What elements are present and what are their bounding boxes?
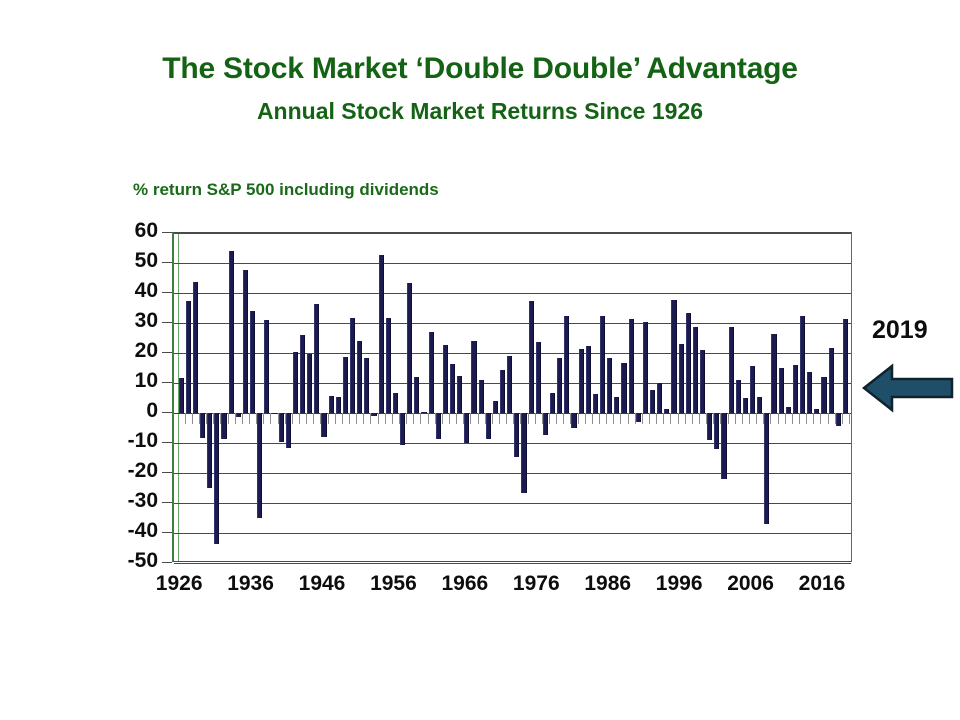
bar bbox=[200, 413, 205, 438]
x-axis-tick-mark bbox=[249, 413, 250, 424]
bar bbox=[179, 378, 184, 413]
bar bbox=[636, 413, 641, 422]
bar bbox=[436, 413, 441, 439]
x-axis-tick-mark bbox=[392, 413, 393, 424]
x-axis-tick-mark bbox=[685, 413, 686, 424]
gridline bbox=[174, 443, 851, 444]
gridline bbox=[174, 293, 851, 294]
x-axis-tick-label: 1956 bbox=[353, 572, 433, 596]
bar bbox=[336, 397, 341, 414]
y-axis-tick-mark bbox=[162, 232, 172, 233]
bar bbox=[521, 413, 526, 493]
bar bbox=[500, 370, 505, 413]
bar bbox=[536, 342, 541, 413]
bar bbox=[607, 358, 612, 414]
bar bbox=[350, 318, 355, 413]
bar bbox=[736, 380, 741, 413]
x-axis-tick-mark bbox=[335, 413, 336, 424]
bar bbox=[400, 413, 405, 445]
bar bbox=[371, 413, 376, 416]
x-axis-tick-mark bbox=[556, 413, 557, 424]
x-axis-tick-mark bbox=[406, 413, 407, 424]
y-axis-tick-label: 60 bbox=[100, 219, 158, 243]
y-axis-tick-mark bbox=[162, 442, 172, 443]
x-axis-tick-mark bbox=[785, 413, 786, 424]
bar bbox=[557, 358, 562, 413]
gridline bbox=[174, 323, 851, 324]
bar bbox=[221, 413, 226, 439]
y-axis-tick-label: 0 bbox=[100, 399, 158, 423]
bar bbox=[450, 364, 455, 414]
x-axis-tick-mark bbox=[270, 413, 271, 424]
bar bbox=[643, 322, 648, 414]
x-axis-tick-mark bbox=[292, 413, 293, 424]
y-axis-tick-label: -50 bbox=[100, 549, 158, 573]
bar bbox=[543, 413, 548, 435]
bar bbox=[229, 251, 234, 413]
x-axis-tick-mark bbox=[313, 413, 314, 424]
bar bbox=[514, 413, 519, 457]
x-axis-tick-mark bbox=[449, 413, 450, 424]
bar bbox=[614, 397, 619, 413]
bar bbox=[471, 341, 476, 413]
x-axis-tick-mark bbox=[628, 413, 629, 424]
x-axis-tick-mark bbox=[428, 413, 429, 424]
x-axis-tick-mark bbox=[585, 413, 586, 424]
x-axis-tick-mark bbox=[328, 413, 329, 424]
y-axis-tick-mark bbox=[162, 262, 172, 263]
bar bbox=[714, 413, 719, 449]
bar bbox=[186, 301, 191, 414]
bar bbox=[236, 413, 241, 417]
bar bbox=[207, 413, 212, 488]
x-axis-tick-mark bbox=[735, 413, 736, 424]
bar bbox=[843, 319, 848, 414]
x-axis-tick-mark bbox=[506, 413, 507, 424]
y-axis-tick-mark bbox=[162, 382, 172, 383]
x-axis-tick-mark bbox=[499, 413, 500, 424]
bar bbox=[793, 365, 798, 413]
x-axis-tick-mark bbox=[842, 413, 843, 424]
left-arrow-icon bbox=[862, 362, 954, 414]
x-axis-tick-mark bbox=[599, 413, 600, 424]
x-axis-tick-mark bbox=[535, 413, 536, 424]
bar bbox=[243, 270, 248, 413]
x-axis-tick-label: 1946 bbox=[282, 572, 362, 596]
bar bbox=[721, 413, 726, 479]
x-axis-tick-mark bbox=[349, 413, 350, 424]
bar bbox=[300, 335, 305, 413]
x-axis-tick-mark bbox=[770, 413, 771, 424]
y-axis-tick-mark bbox=[162, 292, 172, 293]
bar bbox=[314, 304, 319, 413]
x-axis-tick-mark bbox=[820, 413, 821, 424]
x-axis-tick-mark bbox=[263, 413, 264, 424]
bar bbox=[464, 413, 469, 443]
bar bbox=[593, 394, 598, 413]
x-axis-tick-mark bbox=[242, 413, 243, 424]
x-axis-tick-mark bbox=[420, 413, 421, 424]
bar bbox=[814, 409, 819, 413]
bar bbox=[414, 377, 419, 413]
x-axis-tick-label: 1996 bbox=[639, 572, 719, 596]
gridline bbox=[174, 533, 851, 534]
bar bbox=[707, 413, 712, 440]
bar bbox=[586, 346, 591, 414]
x-axis-tick-label: 1926 bbox=[139, 572, 219, 596]
x-axis-tick-label: 2016 bbox=[782, 572, 862, 596]
x-axis-tick-label: 1976 bbox=[496, 572, 576, 596]
y-axis-tick-label: 20 bbox=[100, 339, 158, 363]
x-axis-tick-mark bbox=[492, 413, 493, 424]
gridline bbox=[174, 233, 851, 234]
bar bbox=[386, 318, 391, 413]
y-axis-tick-mark bbox=[162, 562, 172, 563]
bar bbox=[307, 354, 312, 413]
x-axis-tick-mark bbox=[742, 413, 743, 424]
bar bbox=[657, 383, 662, 413]
bar bbox=[286, 413, 291, 448]
chart-axis-title: % return S&P 500 including dividends bbox=[133, 180, 439, 200]
x-axis-tick-mark bbox=[342, 413, 343, 424]
bar bbox=[364, 358, 369, 413]
bar bbox=[429, 332, 434, 413]
x-axis-tick-label: 1986 bbox=[568, 572, 648, 596]
bar bbox=[764, 413, 769, 524]
page-title: The Stock Market ‘Double Double’ Advanta… bbox=[0, 52, 960, 86]
x-axis-tick-mark bbox=[728, 413, 729, 424]
x-axis-tick-mark bbox=[478, 413, 479, 424]
bar bbox=[650, 390, 655, 413]
bar bbox=[836, 413, 841, 426]
bar bbox=[829, 348, 834, 413]
y-axis-tick-label: 50 bbox=[100, 249, 158, 273]
x-axis-tick-mark bbox=[185, 413, 186, 424]
page-subtitle: Annual Stock Market Returns Since 1926 bbox=[0, 98, 960, 125]
x-axis-tick-mark bbox=[649, 413, 650, 424]
bar bbox=[779, 368, 784, 413]
x-axis-tick-mark bbox=[442, 413, 443, 424]
bar bbox=[729, 327, 734, 413]
bar bbox=[214, 413, 219, 544]
x-axis-tick-mark bbox=[470, 413, 471, 424]
y-axis-tick-label: 30 bbox=[100, 309, 158, 333]
x-axis-tick-mark bbox=[670, 413, 671, 424]
x-axis-tick-mark bbox=[663, 413, 664, 424]
y-axis-tick-mark bbox=[162, 412, 172, 413]
y-axis-tick-label: 40 bbox=[100, 279, 158, 303]
bar bbox=[329, 396, 334, 413]
x-axis-tick-mark bbox=[828, 413, 829, 424]
bar bbox=[250, 311, 255, 413]
x-axis-tick-mark bbox=[792, 413, 793, 424]
x-axis-tick-mark bbox=[692, 413, 693, 424]
x-axis-tick-label: 2006 bbox=[711, 572, 791, 596]
x-axis-tick-mark bbox=[749, 413, 750, 424]
bar bbox=[421, 412, 426, 414]
bar bbox=[671, 300, 676, 413]
bar bbox=[579, 349, 584, 413]
gridline bbox=[174, 263, 851, 264]
bar bbox=[507, 356, 512, 413]
bar bbox=[357, 341, 362, 413]
bar bbox=[686, 313, 691, 413]
bar bbox=[821, 377, 826, 413]
y-axis-tick-mark bbox=[162, 322, 172, 323]
bar bbox=[693, 327, 698, 413]
bar bbox=[600, 316, 605, 413]
y-axis-tick-label: -20 bbox=[100, 459, 158, 483]
bar bbox=[786, 407, 791, 413]
x-axis-tick-mark bbox=[563, 413, 564, 424]
x-axis-tick-mark bbox=[299, 413, 300, 424]
x-axis-tick-mark bbox=[413, 413, 414, 424]
bar bbox=[529, 301, 534, 413]
bar bbox=[750, 366, 755, 413]
bar bbox=[571, 413, 576, 428]
x-axis-tick-mark bbox=[642, 413, 643, 424]
x-axis-tick-mark bbox=[678, 413, 679, 424]
x-axis-tick-label: 1966 bbox=[425, 572, 505, 596]
chart-plot-area bbox=[172, 232, 852, 562]
y-axis-tick-label: -40 bbox=[100, 519, 158, 543]
x-axis-tick-mark bbox=[799, 413, 800, 424]
x-axis-tick-mark bbox=[606, 413, 607, 424]
x-axis-tick-mark bbox=[613, 413, 614, 424]
x-axis-tick-mark bbox=[378, 413, 379, 424]
bar bbox=[457, 376, 462, 414]
x-axis-tick-mark bbox=[656, 413, 657, 424]
x-axis-tick-mark bbox=[699, 413, 700, 424]
x-axis-tick-mark bbox=[456, 413, 457, 424]
x-axis-tick-mark bbox=[778, 413, 779, 424]
bar bbox=[479, 380, 484, 413]
bar bbox=[271, 413, 276, 414]
bar bbox=[679, 344, 684, 413]
bar bbox=[550, 393, 555, 413]
x-axis-tick-mark bbox=[306, 413, 307, 424]
bar bbox=[700, 350, 705, 413]
x-axis-tick-mark bbox=[813, 413, 814, 424]
bar bbox=[264, 320, 269, 413]
x-axis-tick-mark bbox=[620, 413, 621, 424]
x-axis-tick-mark bbox=[756, 413, 757, 424]
x-axis-tick-mark bbox=[578, 413, 579, 424]
bar bbox=[486, 413, 491, 439]
bar bbox=[407, 283, 412, 413]
bar bbox=[321, 413, 326, 437]
bar bbox=[743, 398, 748, 413]
bar bbox=[493, 401, 498, 413]
bar bbox=[257, 413, 262, 518]
x-axis-tick-mark bbox=[806, 413, 807, 424]
gridline bbox=[174, 503, 851, 504]
bar bbox=[279, 413, 284, 442]
x-axis-tick-mark bbox=[849, 413, 850, 424]
x-axis-tick-mark bbox=[592, 413, 593, 424]
bar bbox=[621, 363, 626, 413]
x-axis-tick-mark bbox=[385, 413, 386, 424]
bar bbox=[293, 352, 298, 413]
bar bbox=[393, 393, 398, 413]
bar bbox=[664, 409, 669, 413]
y-axis-tick-mark bbox=[162, 352, 172, 353]
x-axis-tick-label: 1936 bbox=[211, 572, 291, 596]
y-axis-tick-mark bbox=[162, 472, 172, 473]
y-axis-tick-label: 10 bbox=[100, 369, 158, 393]
bar bbox=[343, 357, 348, 413]
x-axis-tick-mark bbox=[528, 413, 529, 424]
x-axis-tick-mark bbox=[192, 413, 193, 424]
y-axis-tick-label: -10 bbox=[100, 429, 158, 453]
bar bbox=[771, 334, 776, 414]
bar bbox=[193, 282, 198, 413]
bar bbox=[443, 345, 448, 413]
bar bbox=[807, 372, 812, 413]
gridline bbox=[174, 353, 851, 354]
y-axis-tick-mark bbox=[162, 532, 172, 533]
gridline bbox=[174, 473, 851, 474]
x-axis-tick-mark bbox=[363, 413, 364, 424]
gridline bbox=[174, 563, 851, 564]
bar bbox=[379, 255, 384, 413]
slide-canvas: The Stock Market ‘Double Double’ Advanta… bbox=[0, 0, 960, 720]
annotation-year-label: 2019 bbox=[872, 316, 928, 345]
x-axis-tick-mark bbox=[356, 413, 357, 424]
x-axis-tick-mark bbox=[549, 413, 550, 424]
bar bbox=[800, 316, 805, 413]
bar bbox=[757, 397, 762, 414]
bar bbox=[564, 316, 569, 413]
y-axis-tick-mark bbox=[162, 502, 172, 503]
y-axis-tick-label: -30 bbox=[100, 489, 158, 513]
bar bbox=[629, 319, 634, 414]
x-axis-tick-mark bbox=[228, 413, 229, 424]
